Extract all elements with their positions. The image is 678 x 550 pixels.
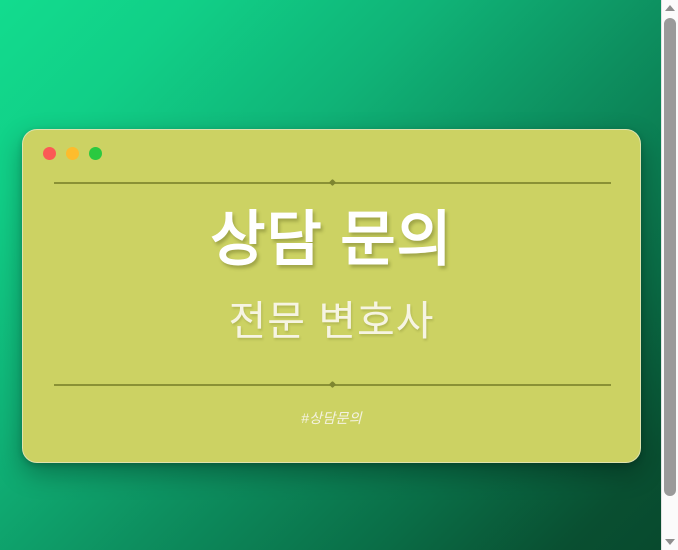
card-content: 상담 문의 전문 변호사 #상담문의 [23,130,640,462]
divider-bottom [54,379,611,390]
viewport: 상담 문의 전문 변호사 #상담문의 [0,0,678,550]
page-title: 상담 문의 [23,208,640,273]
divider-bottom-node-icon [329,381,336,388]
presentation-card: 상담 문의 전문 변호사 #상담문의 [22,129,641,463]
vertical-scrollbar[interactable] [661,0,678,550]
scroll-down-arrow-icon[interactable] [662,534,678,550]
scroll-up-arrow-icon[interactable] [662,0,678,16]
page-subtitle: 전문 변호사 [23,299,640,345]
scrollbar-thumb[interactable] [664,18,676,496]
hashtag-label: #상담문의 [23,408,640,428]
